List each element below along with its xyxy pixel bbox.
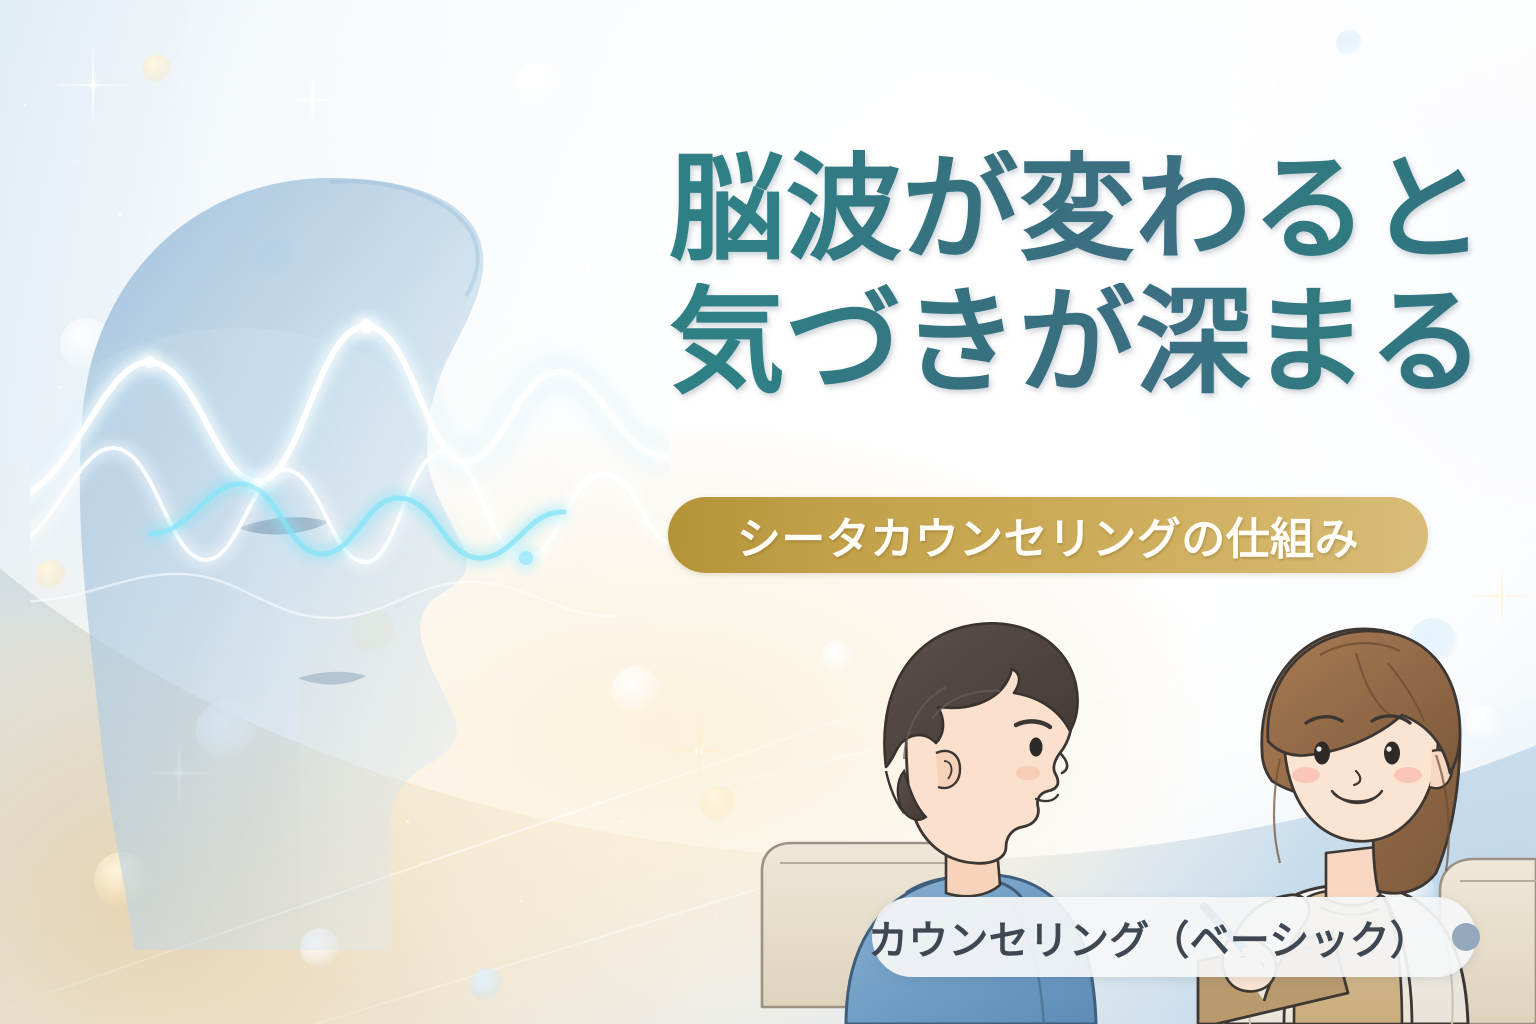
status-dot-icon xyxy=(1452,923,1480,951)
category-pill-label: カウンセリング（ベーシック） xyxy=(868,908,1430,966)
eye xyxy=(1314,742,1330,765)
headline-line-1: 脳波が変わると xyxy=(662,150,1492,269)
promo-banner: 脳波が変わると 気づきが深まる シータカウンセリングの仕組み xyxy=(0,0,1536,1024)
brainwave-head-silhouette xyxy=(30,130,670,950)
eye xyxy=(1384,742,1400,765)
headline-block: 脳波が変わると 気づきが深まる xyxy=(662,150,1492,403)
category-pill[interactable]: カウンセリング（ベーシック） xyxy=(872,897,1476,977)
eye xyxy=(1030,738,1043,757)
subtitle-badge: シータカウンセリングの仕組み xyxy=(668,497,1428,573)
headline-line-2: 気づきが深まる xyxy=(662,283,1492,402)
subtitle-badge-label: シータカウンセリングの仕組み xyxy=(737,503,1359,567)
